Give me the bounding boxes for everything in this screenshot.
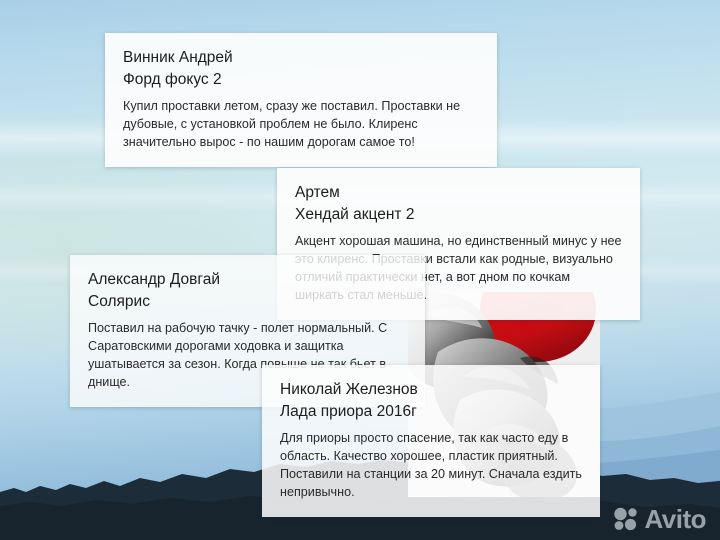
- car-model: Хендай акцент 2: [295, 204, 622, 226]
- review-text: Купил проставки летом, сразу же поставил…: [123, 97, 479, 151]
- avito-dots-logo: [613, 507, 639, 531]
- review-text: Для приоры просто спасение, так как част…: [280, 429, 582, 501]
- screenshot-canvas: Винник Андрей Форд фокус 2 Купил простав…: [0, 0, 720, 540]
- avito-brand-text: Avito: [644, 506, 706, 532]
- avito-watermark: Avito: [613, 506, 706, 532]
- car-model: Форд фокус 2: [123, 69, 479, 91]
- review-card[interactable]: Николай Железнов Лада приора 2016г Для п…: [262, 365, 600, 517]
- reviewer-name: Александр Довгай: [88, 269, 407, 291]
- reviewer-name: Николай Железнов: [280, 379, 582, 401]
- car-model: Солярис: [88, 291, 407, 313]
- reviewer-name: Винник Андрей: [123, 47, 479, 69]
- review-card[interactable]: Винник Андрей Форд фокус 2 Купил простав…: [105, 33, 497, 167]
- reviewer-name: Артем: [295, 182, 622, 204]
- car-model: Лада приора 2016г: [280, 401, 582, 423]
